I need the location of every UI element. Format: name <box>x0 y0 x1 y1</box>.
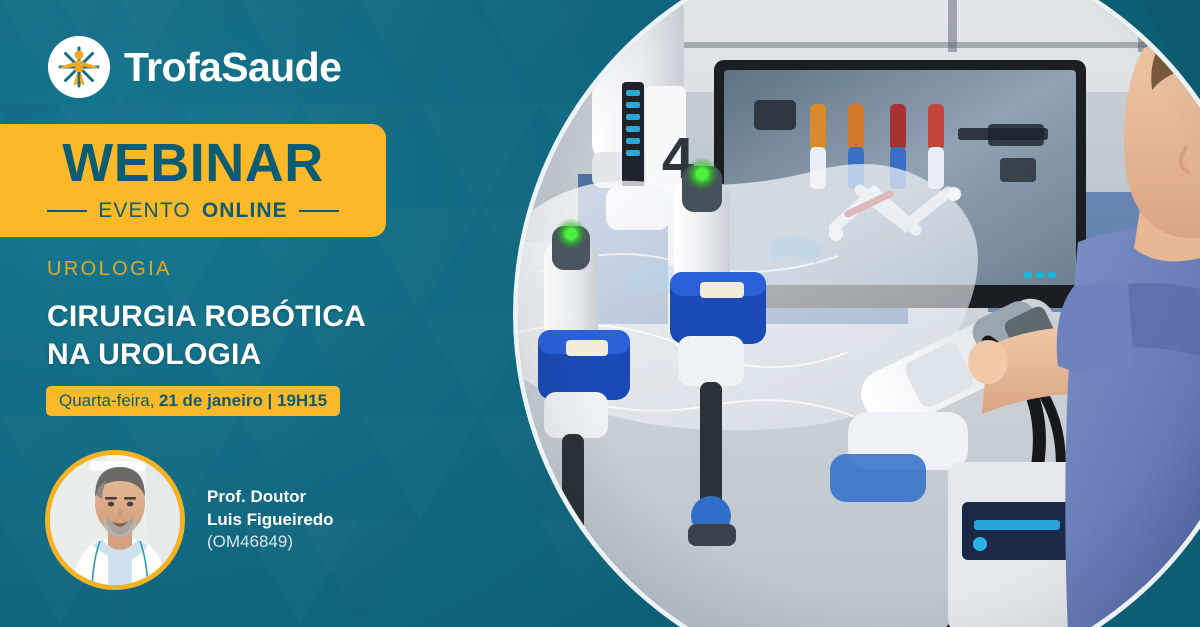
event-specialty: UROLOGIA <box>47 258 172 281</box>
speaker-details: Prof. Doutor Luis Figueiredo (OM46849) <box>207 486 334 554</box>
event-title-line-1: CIRURGIA ROBÓTICA <box>47 298 366 336</box>
webinar-subtitle-bold: ONLINE <box>202 199 288 223</box>
webinar-title: WEBINAR <box>62 136 323 190</box>
rule-right-icon <box>299 210 339 212</box>
speaker-photo <box>50 455 185 590</box>
speaker-name: Luis Figueiredo <box>207 509 334 532</box>
event-title: CIRURGIA ROBÓTICA NA UROLOGIA <box>47 298 366 374</box>
speaker-block: Prof. Doutor Luis Figueiredo (OM46849) <box>45 450 334 590</box>
brand-name: TrofaSaude <box>124 47 341 88</box>
hero-photo: 4 <box>518 0 1200 627</box>
event-date-time: 21 de janeiro | 19H15 <box>159 391 327 411</box>
webinar-poster: 4 <box>0 0 1200 627</box>
robotic-surgery-photo: 4 <box>518 0 1200 627</box>
webinar-subtitle-regular: EVENTO <box>98 199 191 223</box>
rule-left-icon <box>47 210 87 212</box>
webinar-banner: WEBINAR EVENTO ONLINE <box>0 124 386 237</box>
event-weekday: Quarta-feira, <box>59 391 154 411</box>
starburst-person-logo-icon <box>48 36 110 98</box>
event-title-line-2: NA UROLOGIA <box>47 336 366 374</box>
event-date-badge: Quarta-feira, 21 de janeiro | 19H15 <box>46 386 340 416</box>
speaker-avatar <box>45 450 185 590</box>
speaker-title: Prof. Doutor <box>207 486 334 509</box>
speaker-registration: (OM46849) <box>207 531 334 554</box>
brand-logo: TrofaSaude <box>48 36 341 98</box>
webinar-subtitle: EVENTO ONLINE <box>47 199 339 223</box>
